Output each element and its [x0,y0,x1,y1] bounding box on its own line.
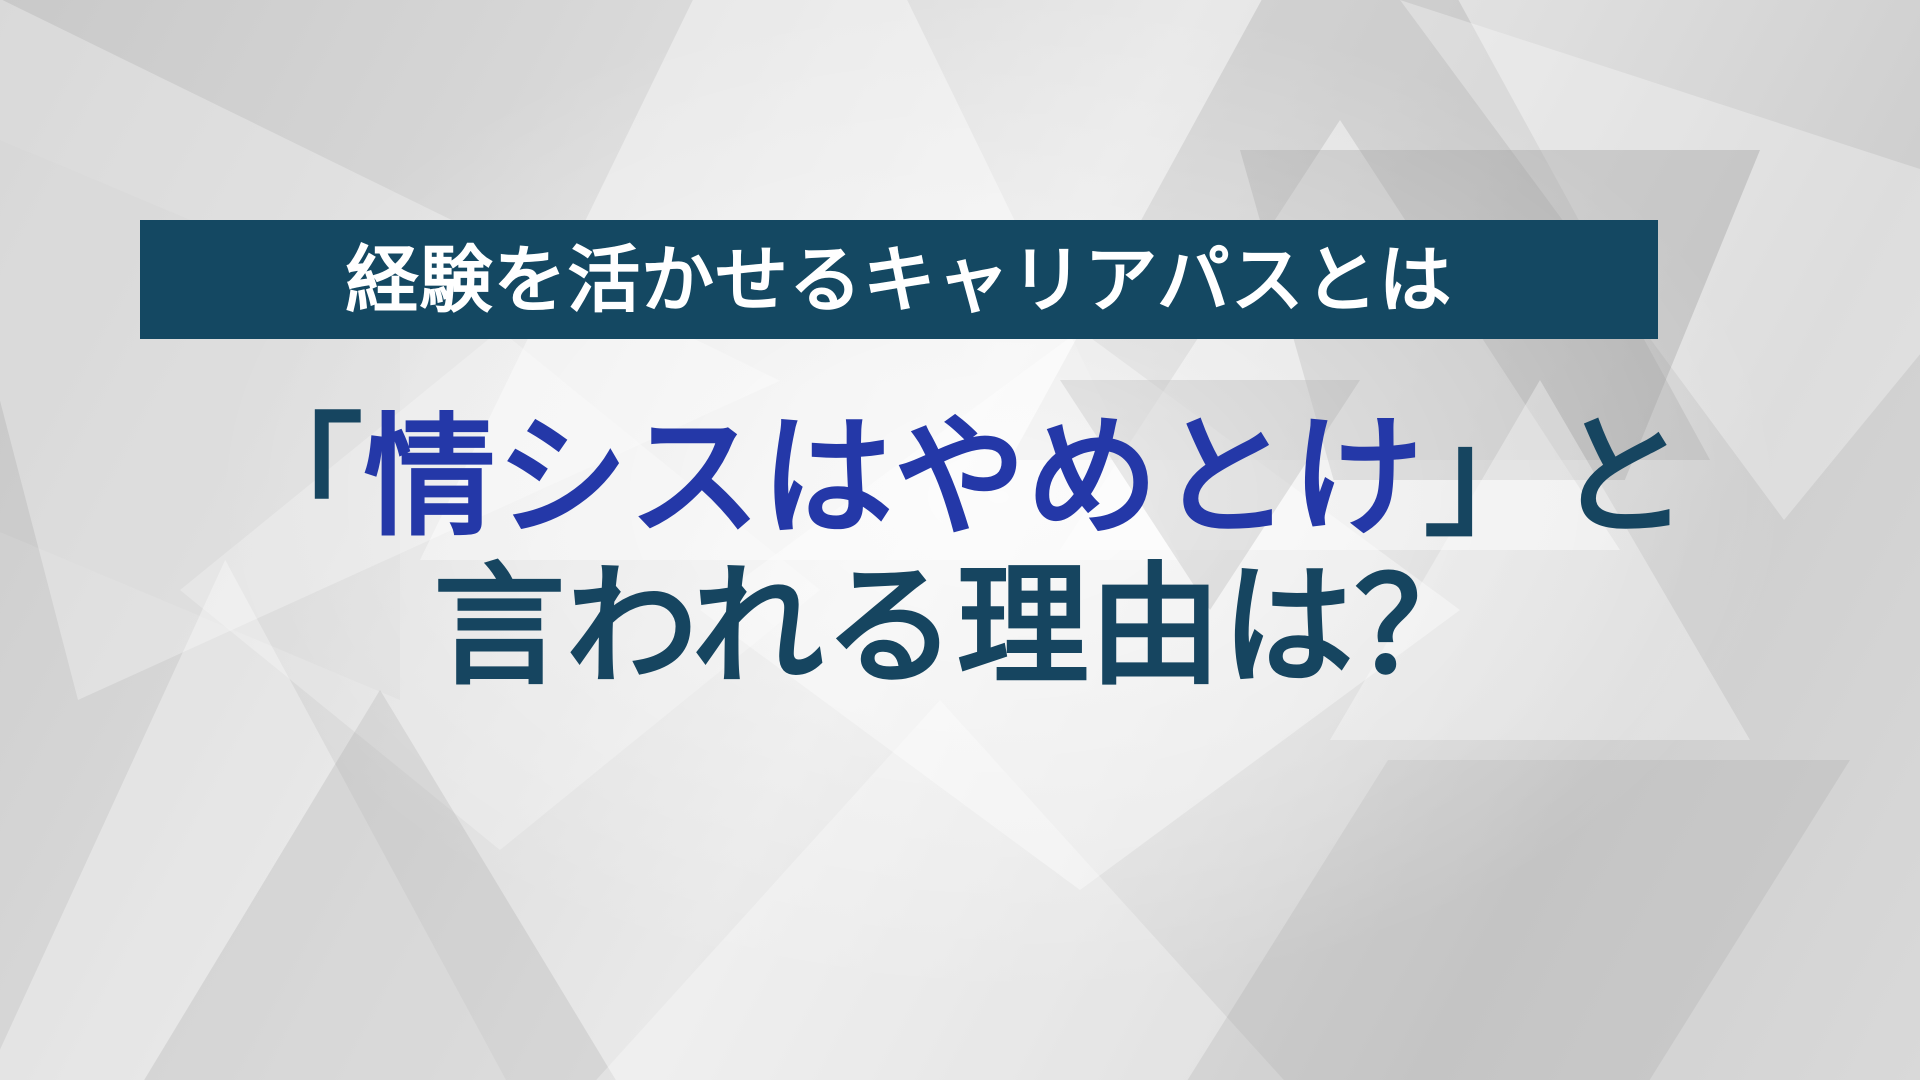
title-line-1-tail: と [1556,401,1689,555]
title-open-bracket: 「 [231,401,364,555]
page-title-line-1: 「情シスはやめとけ」と [0,404,1920,553]
thumbnail-canvas: 経験を活かせるキャリアパスとは 「情シスはやめとけ」と 言われる理由は？ [0,0,1920,1080]
eyebrow-banner: 経験を活かせるキャリアパスとは [140,220,1658,339]
page-title-line-2: 言われる理由は？ [0,553,1920,702]
title-emphasis-phrase: 情シスはやめとけ [364,401,1424,555]
page-title: 「情シスはやめとけ」と 言われる理由は？ [0,404,1920,702]
eyebrow-banner-label: 経験を活かせるキャリアパスとは [346,244,1453,317]
title-close-bracket: 」 [1424,401,1557,555]
